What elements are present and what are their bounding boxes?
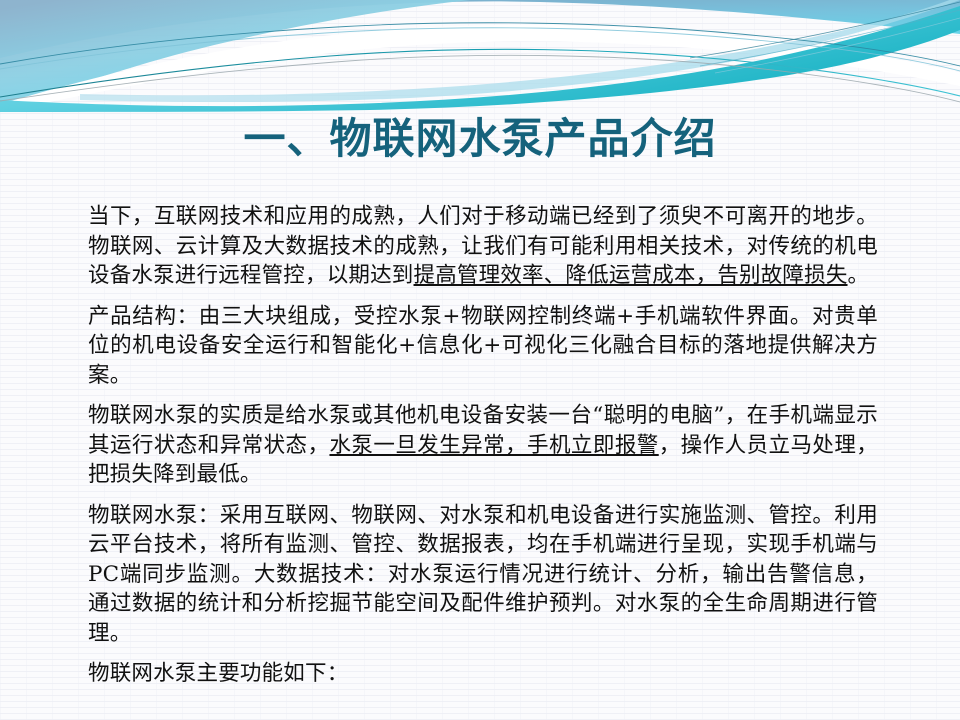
underlined-run: 水泵一旦发生异常，手机立即报警	[329, 433, 658, 458]
slide-body: 当下，互联网技术和应用的成熟，人们对于移动端已经到了须臾不可离开的地步。物联网、…	[88, 202, 878, 689]
paragraph-5: 物联网水泵主要功能如下：	[88, 659, 878, 689]
text-run: 物联网水泵：采用互联网、物联网、对水泵和机电设备进行实施监测、管控。利用云平台技…	[88, 503, 878, 646]
presentation-slide: 一、物联网水泵产品介绍 当下，互联网技术和应用的成熟，人们对于移动端已经到了须臾…	[0, 0, 960, 720]
wave-ribbon-decoration	[0, 0, 960, 112]
paragraph-1: 当下，互联网技术和应用的成熟，人们对于移动端已经到了须臾不可离开的地步。物联网、…	[88, 202, 878, 291]
paragraph-3: 物联网水泵的实质是给水泵或其他机电设备安装一台“聪明的电脑”，在手机端显示其运行…	[88, 401, 878, 490]
text-run: 产品结构：由三大块组成，受控水泵+物联网控制终端+手机端软件界面。对贵单位的机电…	[88, 304, 878, 388]
text-run: 。	[848, 263, 870, 288]
slide-title: 一、物联网水泵产品介绍	[0, 112, 960, 166]
underlined-run: 提高管理效率、降低运营成本，告别故障损失	[414, 263, 848, 288]
text-run: 物联网水泵主要功能如下：	[88, 661, 348, 686]
paragraph-4: 物联网水泵：采用互联网、物联网、对水泵和机电设备进行实施监测、管控。利用云平台技…	[88, 501, 878, 649]
paragraph-2: 产品结构：由三大块组成，受控水泵+物联网控制终端+手机端软件界面。对贵单位的机电…	[88, 302, 878, 391]
